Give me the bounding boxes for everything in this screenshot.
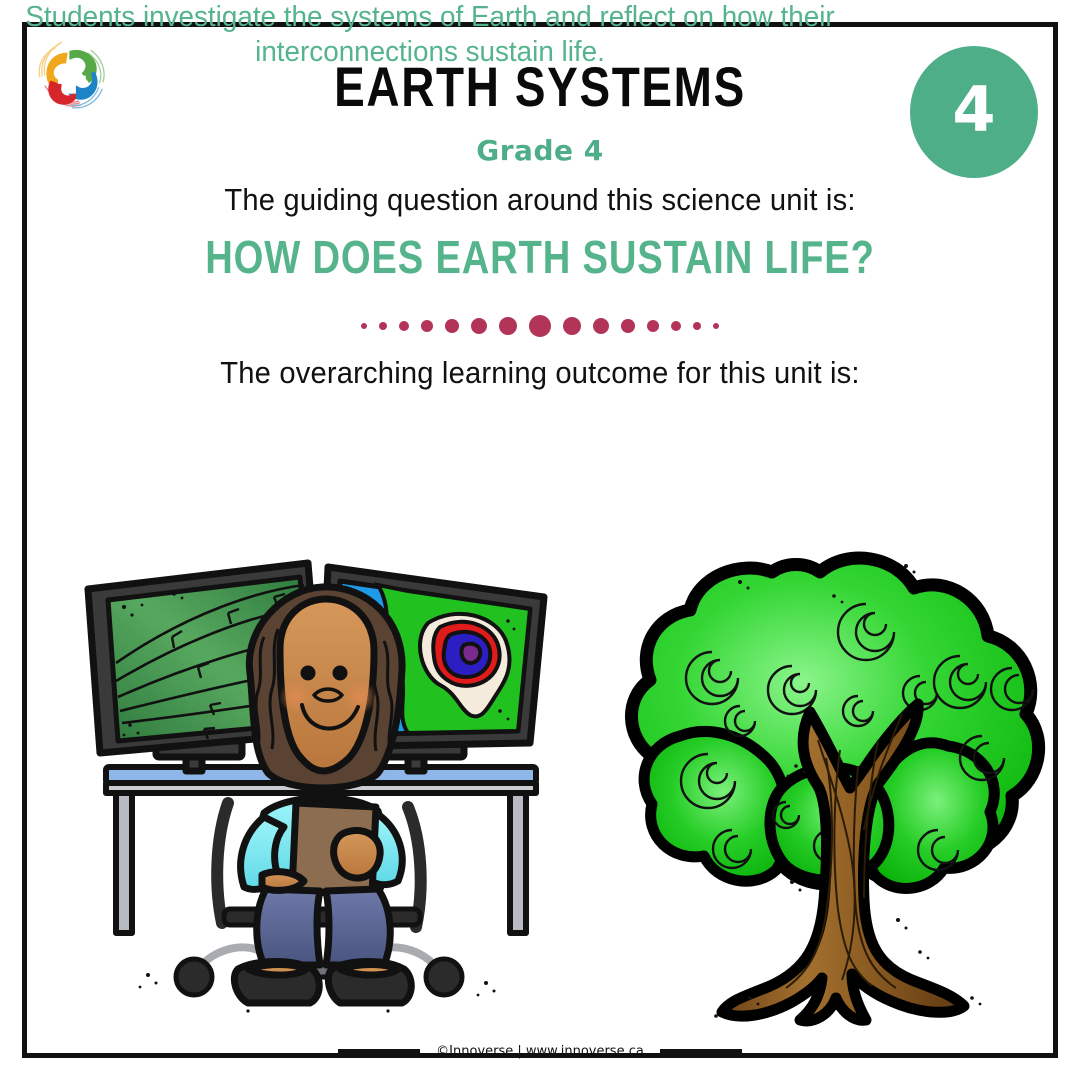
divider-dot-12 bbox=[671, 321, 681, 331]
divider-dot-8 bbox=[563, 317, 581, 335]
footer: ©Innoverse | www.innoverse.ca bbox=[0, 1038, 1080, 1064]
student-head bbox=[249, 587, 402, 788]
divider-dot-10 bbox=[621, 319, 635, 333]
lead-in-guiding-question: The guiding question around this science… bbox=[32, 182, 1047, 218]
guiding-question: HOW DOES EARTH SUSTAIN LIFE? bbox=[92, 232, 988, 283]
divider-dot-11 bbox=[647, 320, 659, 332]
divider-dot-14 bbox=[713, 323, 719, 329]
footer-rule-right bbox=[660, 1049, 742, 1053]
divider-dot-0 bbox=[361, 323, 367, 329]
divider-dot-3 bbox=[421, 320, 433, 332]
divider-dot-4 bbox=[445, 319, 459, 333]
tree-illustration bbox=[620, 500, 1070, 1045]
dot-divider bbox=[0, 312, 1080, 340]
divider-dot-2 bbox=[399, 321, 409, 331]
footer-credit: ©Innoverse | www.innoverse.ca bbox=[436, 1044, 644, 1059]
student-at-computer-illustration bbox=[78, 545, 568, 1025]
divider-dot-7 bbox=[529, 315, 551, 337]
divider-dot-6 bbox=[499, 317, 517, 335]
divider-dot-9 bbox=[593, 318, 609, 334]
divider-dot-13 bbox=[693, 322, 701, 330]
learning-outcome-text: Students investigate the systems of Eart… bbox=[17, 0, 843, 71]
grade-subtitle: Grade 4 bbox=[0, 134, 1080, 167]
divider-dot-1 bbox=[379, 322, 387, 330]
poster-card: 4 EARTH SYSTEMS Grade 4 The guiding ques… bbox=[0, 0, 1080, 1080]
lead-in-learning-outcome: The overarching learning outcome for thi… bbox=[32, 355, 1047, 391]
footer-rule-left bbox=[338, 1049, 420, 1053]
divider-dot-5 bbox=[471, 318, 487, 334]
